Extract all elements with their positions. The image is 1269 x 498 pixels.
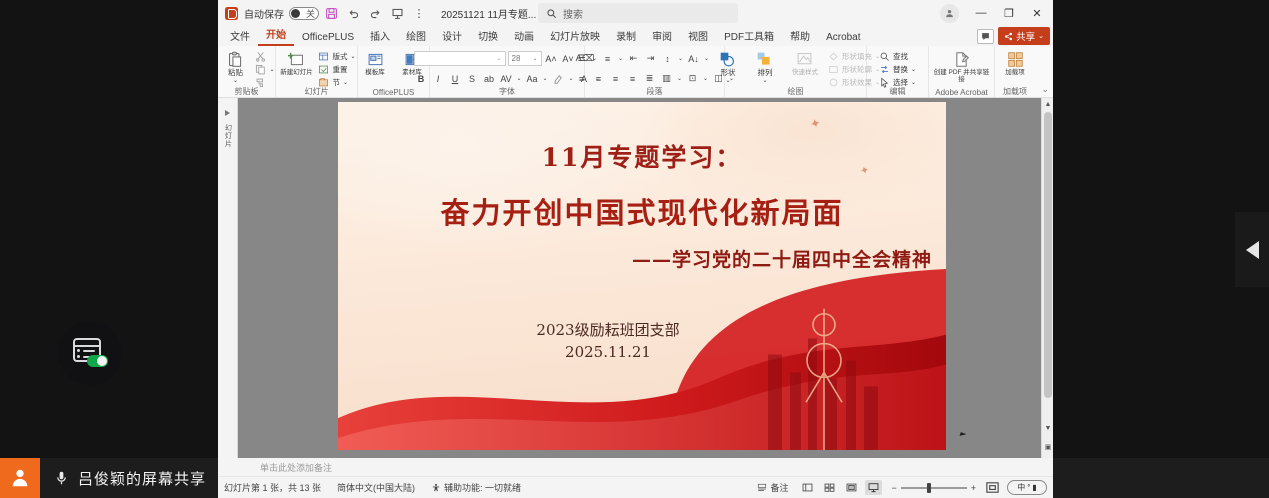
powerpoint-window: 自动保存 关 ⋮ 20251121 11月专题... • 已保存到这台电脑 ⌄ <box>218 0 1053 498</box>
shapes-icon <box>719 49 736 69</box>
chevron-down-icon[interactable]: ⌄ <box>677 51 684 66</box>
increase-indent-icon[interactable]: ⇥ <box>643 51 658 66</box>
reading-view-icon <box>846 482 857 493</box>
ribbon-group-drawing: 形状 ⌄ 排列 ⌄ 快速样式 <box>725 46 867 97</box>
group-label-drawing: 绘图 <box>725 86 866 97</box>
zoom-floating-controls-button[interactable] <box>58 321 122 385</box>
ribbon-group-addins: 加载项 加载项 <box>995 46 1035 97</box>
tab-help[interactable]: 帮助 <box>782 27 818 46</box>
tab-acrobat[interactable]: Acrobat <box>818 31 868 46</box>
strikethrough-icon[interactable]: ab <box>482 71 497 86</box>
slideshow-icon <box>868 482 879 493</box>
notes-toggle-button[interactable]: 备注 <box>757 481 788 494</box>
sort-icon[interactable]: A↓ <box>686 51 701 66</box>
arrange-label: 排列 <box>757 69 772 78</box>
tab-transitions[interactable]: 切换 <box>470 27 506 46</box>
search-input[interactable]: 搜索 <box>538 3 738 23</box>
slide-count-status[interactable]: 幻灯片第 1 张，共 13 张 <box>224 481 321 494</box>
triangle-right-icon <box>225 110 230 116</box>
replace-button[interactable]: 替换 ⌄ <box>879 63 916 75</box>
zoom-out-button[interactable]: − <box>891 483 896 493</box>
create-pdf-icon <box>953 49 970 69</box>
group-label-font: 字体 <box>430 86 584 97</box>
undo-icon[interactable] <box>343 3 363 23</box>
tab-record[interactable]: 录制 <box>608 27 644 46</box>
bullets-icon[interactable]: ☰ <box>574 51 589 66</box>
fit-window-button[interactable] <box>985 480 1000 495</box>
save-icon[interactable] <box>321 3 341 23</box>
align-right-icon[interactable]: ≡ <box>608 71 623 86</box>
font-size-input[interactable]: 28 ⌄ <box>508 51 542 66</box>
status-bar-right: 备注 − + <box>757 480 1047 495</box>
chevron-down-icon[interactable]: ⌄ <box>676 71 683 86</box>
justify-icon[interactable]: ≡ <box>625 71 640 86</box>
document-title: 20251121 11月专题... <box>441 6 536 21</box>
person-icon <box>9 467 31 489</box>
slide-organization: 2023级励耘班团支部 <box>458 320 758 342</box>
shape-fill-icon <box>828 51 839 62</box>
reset-icon <box>318 64 329 75</box>
arrange-icon <box>756 49 773 69</box>
search-placeholder: 搜索 <box>563 6 583 21</box>
screen-root: 吕俊颖的屏幕共享 自动保存 关 ⋮ 20251121 11月专 <box>0 0 1269 498</box>
distribute-icon[interactable]: ≣ <box>642 71 657 86</box>
group-label-editing: 编辑 <box>867 86 928 97</box>
share-button[interactable]: 共享 ⌄ <box>998 27 1050 45</box>
ime-punct-icon: ° <box>1027 483 1030 492</box>
quick-styles-button[interactable]: 快速样式 <box>785 48 825 76</box>
replace-label: 替换 <box>893 64 908 75</box>
ribbon-tab-strip: 文件 开始 OfficePLUS 插入 绘图 设计 切换 动画 幻灯片放映 录制… <box>218 26 1053 46</box>
ribbon-group-font: ⌄ 28 ⌄ A˄ A˅ A⌫ B I U S <box>430 46 585 97</box>
quick-styles-icon <box>796 49 813 69</box>
group-label-clipboard: 剪贴板 <box>218 86 275 97</box>
caret-up-icon[interactable]: ▲ <box>1042 98 1053 110</box>
tab-officeplus[interactable]: OfficePLUS <box>294 31 362 46</box>
ribbon: 粘贴 ⌄ ⌄ <box>218 46 1053 98</box>
collapse-ribbon-button[interactable]: ⌄ <box>1041 84 1049 95</box>
slide-sorter-icon <box>824 482 835 493</box>
editing-area: 幻灯片 ✦ ✦ <box>218 98 1053 458</box>
slide-canvas[interactable]: ✦ ✦ <box>238 98 1053 458</box>
copy-icon <box>255 64 266 75</box>
normal-view-icon <box>802 482 813 493</box>
accessibility-icon <box>431 483 441 493</box>
scrollbar-thumb[interactable] <box>1044 112 1052 398</box>
zoom-expand-panel-button[interactable] <box>1235 212 1269 287</box>
ime-tray-icon: ▮ <box>1032 483 1036 492</box>
minimize-button[interactable]: — <box>967 1 995 25</box>
change-case-icon[interactable]: Aa <box>525 71 540 86</box>
ribbon-group-paragraph: ☰ ⌄ ≡ ⌄ ⇤ ⇥ ↕ ⌄ A↓ ⌄ ≡ ≡ ≡ <box>585 46 725 97</box>
language-status[interactable]: 简体中文(中国大陆) <box>337 481 415 494</box>
group-label-slides: 幻灯片 <box>276 86 357 97</box>
chevron-down-icon[interactable]: ⌄ <box>617 51 624 66</box>
create-pdf-button[interactable]: 创建 PDF 并共享链接 <box>933 48 991 84</box>
mouse-cursor <box>959 432 966 438</box>
tab-animations[interactable]: 动画 <box>506 27 542 46</box>
group-label-acrobat: Adobe Acrobat <box>929 88 994 97</box>
reset-button[interactable]: 重置 <box>318 63 355 75</box>
slide-title-line-2[interactable]: 奋力开创中国式现代化新局面 <box>338 190 946 232</box>
zoom-in-button[interactable]: + <box>971 483 976 493</box>
ribbon-group-editing: 查找 替换 ⌄ 选择 ⌄ 编辑 <box>867 46 929 97</box>
find-label: 查找 <box>893 51 908 62</box>
chevron-down-icon[interactable]: ⌄ <box>703 51 710 66</box>
columns-icon[interactable]: ▥ <box>659 71 674 86</box>
reset-label: 重置 <box>332 64 347 75</box>
zoom-handle[interactable] <box>927 483 931 493</box>
powerpoint-icon <box>225 7 238 20</box>
underline-icon[interactable]: U <box>448 71 463 86</box>
font-size-value: 28 <box>512 54 521 63</box>
tab-file[interactable]: 文件 <box>222 27 258 46</box>
account-icon[interactable] <box>940 4 959 23</box>
decrease-indent-icon[interactable]: ⇤ <box>626 51 641 66</box>
addins-button[interactable]: 加载项 <box>998 48 1032 76</box>
line-spacing-icon[interactable]: ↕ <box>660 51 675 66</box>
notes-placeholder: 单击此处添加备注 <box>260 461 332 474</box>
search-icon <box>546 8 557 19</box>
zoom-track[interactable] <box>901 487 967 489</box>
slideshow-button[interactable] <box>865 480 882 495</box>
tab-review[interactable]: 审阅 <box>644 27 680 46</box>
new-slide-label: 新建幻灯片 <box>280 69 313 76</box>
chevron-down-icon[interactable]: ⌄ <box>542 71 549 86</box>
numbering-icon[interactable]: ≡ <box>600 51 615 66</box>
slide-subtitle[interactable]: ——学习党的二十届四中全会精神 <box>632 245 932 272</box>
share-button-label: 共享 <box>1016 29 1035 43</box>
accessibility-status[interactable]: 辅助功能: 一切就绪 <box>431 481 521 494</box>
shadow-icon[interactable]: S <box>465 71 480 86</box>
align-center-icon[interactable]: ≡ <box>591 71 606 86</box>
cut-icon <box>255 51 266 62</box>
close-button[interactable]: ✕ <box>1023 1 1051 25</box>
template-library-button[interactable]: 模板库 <box>358 48 392 76</box>
notes-pane[interactable]: 单击此处添加备注 <box>238 458 1053 476</box>
share-icon <box>1004 32 1013 41</box>
highlight-icon[interactable] <box>551 71 566 86</box>
tab-draw[interactable]: 绘图 <box>398 27 434 46</box>
paste-icon <box>227 49 244 69</box>
group-label-addins: 加载项 <box>995 86 1035 97</box>
present-icon[interactable] <box>387 3 407 23</box>
text-direction-icon[interactable]: ⊡ <box>685 71 700 86</box>
thumbnail-pane-label: 幻灯片 <box>223 124 233 148</box>
character-spacing-icon[interactable]: AV <box>499 71 514 86</box>
bold-icon[interactable]: B <box>414 71 429 86</box>
slide-surface[interactable]: ✦ ✦ <box>338 102 946 450</box>
slide-thumbnail-pane-collapsed[interactable]: 幻灯片 <box>218 98 238 458</box>
slide-sorter-button[interactable] <box>821 480 838 495</box>
addins-icon <box>1007 49 1024 69</box>
triangle-left-icon <box>1246 241 1259 259</box>
caret-down-icon[interactable]: ▼ <box>1042 422 1053 434</box>
share-chevron-icon: ⌄ <box>1038 32 1044 40</box>
ime-indicator[interactable]: 中 ° ▮ <box>1007 480 1047 495</box>
fit-window-icon <box>985 480 1000 495</box>
autosave-toggle[interactable]: 关 <box>289 7 319 20</box>
shape-outline-icon <box>828 64 839 75</box>
shapes-button[interactable]: 形状 ⌄ <box>711 48 745 85</box>
panel-toggle-icon <box>73 338 107 368</box>
chevron-down-icon: ⌄ <box>269 66 274 73</box>
template-library-label: 模板库 <box>365 69 385 76</box>
zoom-slider[interactable]: − + <box>891 483 976 493</box>
tab-insert[interactable]: 插入 <box>362 27 398 46</box>
comment-icon <box>981 32 990 41</box>
grow-font-icon[interactable]: A˄ <box>544 51 559 66</box>
slide-date: 2025.11.21 <box>458 342 758 364</box>
paste-button[interactable]: 粘贴 ⌄ <box>218 48 252 85</box>
quick-styles-label: 快速样式 <box>792 69 818 76</box>
slide-title-line-1[interactable]: 11月专题学习： <box>338 138 946 174</box>
align-left-icon[interactable]: ≡ <box>574 71 589 86</box>
create-pdf-label: 创建 PDF 并共享链接 <box>933 69 991 84</box>
autosave-label: 自动保存 <box>244 6 284 21</box>
tab-view[interactable]: 视图 <box>680 27 716 46</box>
tab-slideshow[interactable]: 幻灯片放映 <box>542 27 608 46</box>
notes-icon <box>757 483 767 493</box>
normal-view-button[interactable] <box>799 480 816 495</box>
window-controls: — ❐ ✕ <box>940 0 1051 26</box>
tab-design[interactable]: 设计 <box>434 27 470 46</box>
status-bar: 幻灯片第 1 张，共 13 张 简体中文(中国大陆) 辅助功能: 一切就绪 备注 <box>218 476 1053 498</box>
layout-button[interactable]: 版式 ⌄ <box>318 50 355 62</box>
layout-icon <box>318 51 329 62</box>
new-slide-icon <box>288 49 305 69</box>
chevron-down-icon[interactable]: ⌄ <box>591 51 598 66</box>
layout-label: 版式 <box>332 51 347 62</box>
shapes-label: 形状 <box>720 69 735 78</box>
ime-label: 中 <box>1017 482 1025 493</box>
template-library-icon <box>367 49 384 69</box>
group-label-officeplus: OfficePLUS <box>358 88 429 97</box>
addins-label: 加载项 <box>1005 69 1025 76</box>
reading-view-button[interactable] <box>843 480 860 495</box>
redo-icon[interactable] <box>365 3 385 23</box>
chevron-down-icon[interactable]: ⌄ <box>702 71 709 86</box>
italic-icon[interactable]: I <box>431 71 446 86</box>
tab-home[interactable]: 开始 <box>258 25 294 46</box>
ribbon-group-slides: 新建幻灯片 版式 ⌄ 重置 <box>276 46 358 97</box>
ribbon-group-clipboard: 粘贴 ⌄ ⌄ <box>218 46 276 97</box>
ribbon-group-acrobat: 创建 PDF 并共享链接 Adobe Acrobat <box>929 46 995 97</box>
cut-button[interactable] <box>255 50 274 62</box>
paste-label: 粘贴 <box>228 69 243 78</box>
restore-button[interactable]: ❐ <box>995 1 1023 25</box>
replace-icon <box>879 64 890 75</box>
group-label-paragraph: 段落 <box>585 86 724 97</box>
arrange-button[interactable]: 排列 ⌄ <box>748 48 782 85</box>
fit-slide-icon[interactable]: ▣ <box>1042 436 1053 458</box>
screen-share-label: 吕俊颖的屏幕共享 <box>78 468 206 489</box>
title-bar: 自动保存 关 ⋮ 20251121 11月专题... • 已保存到这台电脑 ⌄ <box>218 0 1053 26</box>
slide-organization-block[interactable]: 2023级励耘班团支部 2025.11.21 <box>458 320 758 364</box>
find-icon <box>879 51 890 62</box>
find-button[interactable]: 查找 <box>879 50 916 62</box>
copy-button[interactable]: ⌄ <box>255 63 274 75</box>
comments-button[interactable] <box>977 29 994 44</box>
microphone-icon[interactable] <box>54 468 69 488</box>
vertical-scrollbar[interactable]: ▲ ▼ ▣ <box>1041 98 1053 458</box>
chevron-down-icon: ⌄ <box>233 78 238 85</box>
new-slide-button[interactable]: 新建幻灯片 <box>277 48 315 76</box>
tab-pdf-toolbox[interactable]: PDF工具箱 <box>716 27 782 46</box>
avatar <box>0 458 40 498</box>
more-icon[interactable]: ⋮ <box>409 3 429 23</box>
font-name-input[interactable]: ⌄ <box>414 51 506 66</box>
chevron-down-icon[interactable]: ⌄ <box>516 71 523 86</box>
